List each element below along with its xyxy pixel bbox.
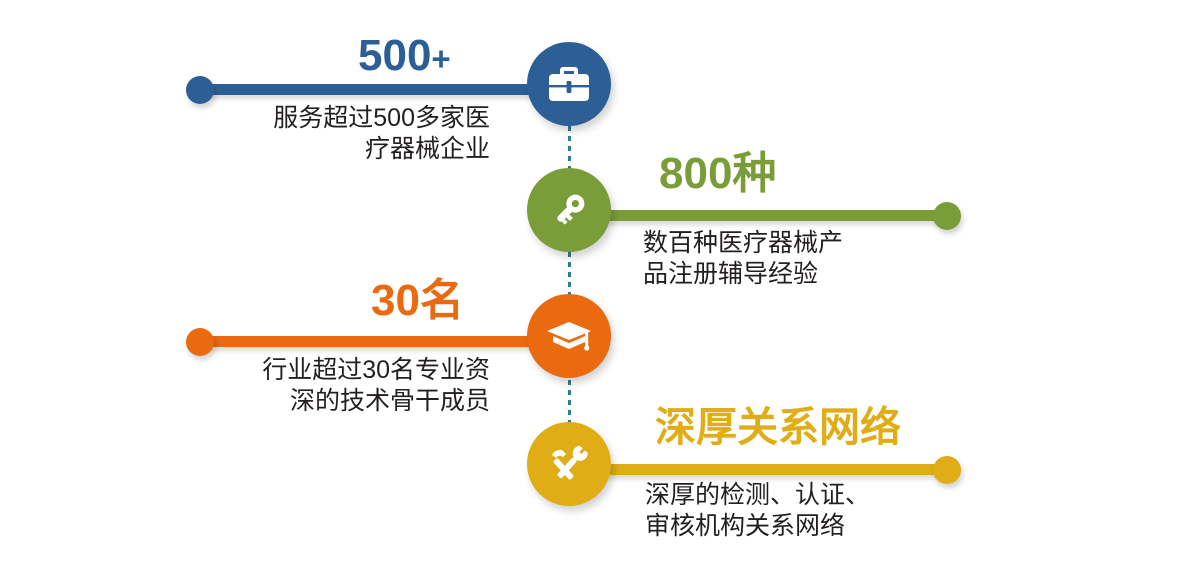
infographic-canvas: 500+ 服务超过500多家医 疗器械企业 800种 数百种医疗器械产 品注册辅… [0, 0, 1180, 566]
stat-description-clients: 服务超过500多家医 疗器械企业 [150, 103, 490, 165]
graduation-cap-icon [545, 316, 593, 356]
key-icon [547, 188, 591, 232]
connector-bar-product-types [600, 210, 945, 221]
stat-icon-node-product-types[interactable] [527, 168, 611, 252]
stat-row-experts: 30名 行业超过30名专业资 深的技术骨干成员 [0, 252, 1180, 392]
connector-bar-network [600, 464, 945, 475]
stat-icon-node-clients[interactable] [527, 42, 611, 126]
stat-headline-network: 深厚关系网络 [655, 404, 901, 450]
stat-number-clients: 500 [358, 31, 431, 80]
stat-headline-product-types: 800种 [659, 151, 776, 197]
connector-bar-clients [198, 84, 554, 95]
tools-icon [546, 442, 592, 486]
line-end-dot-product-types [933, 202, 961, 230]
stat-headline-experts: 30名 [371, 278, 464, 324]
stat-icon-node-experts[interactable] [527, 294, 611, 378]
stat-description-product-types: 数百种医疗器械产 品注册辅导经验 [643, 228, 1003, 290]
briefcase-icon [546, 63, 592, 105]
stat-headline-clients: 500+ [358, 33, 451, 82]
stat-description-experts: 行业超过30名专业资 深的技术骨干成员 [140, 355, 490, 417]
connector-bar-experts [198, 336, 554, 347]
stat-row-clients: 500+ 服务超过500多家医 疗器械企业 [0, 0, 1180, 140]
line-end-dot-clients [186, 76, 214, 104]
stat-suffix-clients: + [431, 40, 450, 77]
stat-description-network: 深厚的检测、认证、 审核机构关系网络 [645, 480, 1025, 542]
stat-icon-node-network[interactable] [527, 422, 611, 506]
line-end-dot-experts [186, 328, 214, 356]
